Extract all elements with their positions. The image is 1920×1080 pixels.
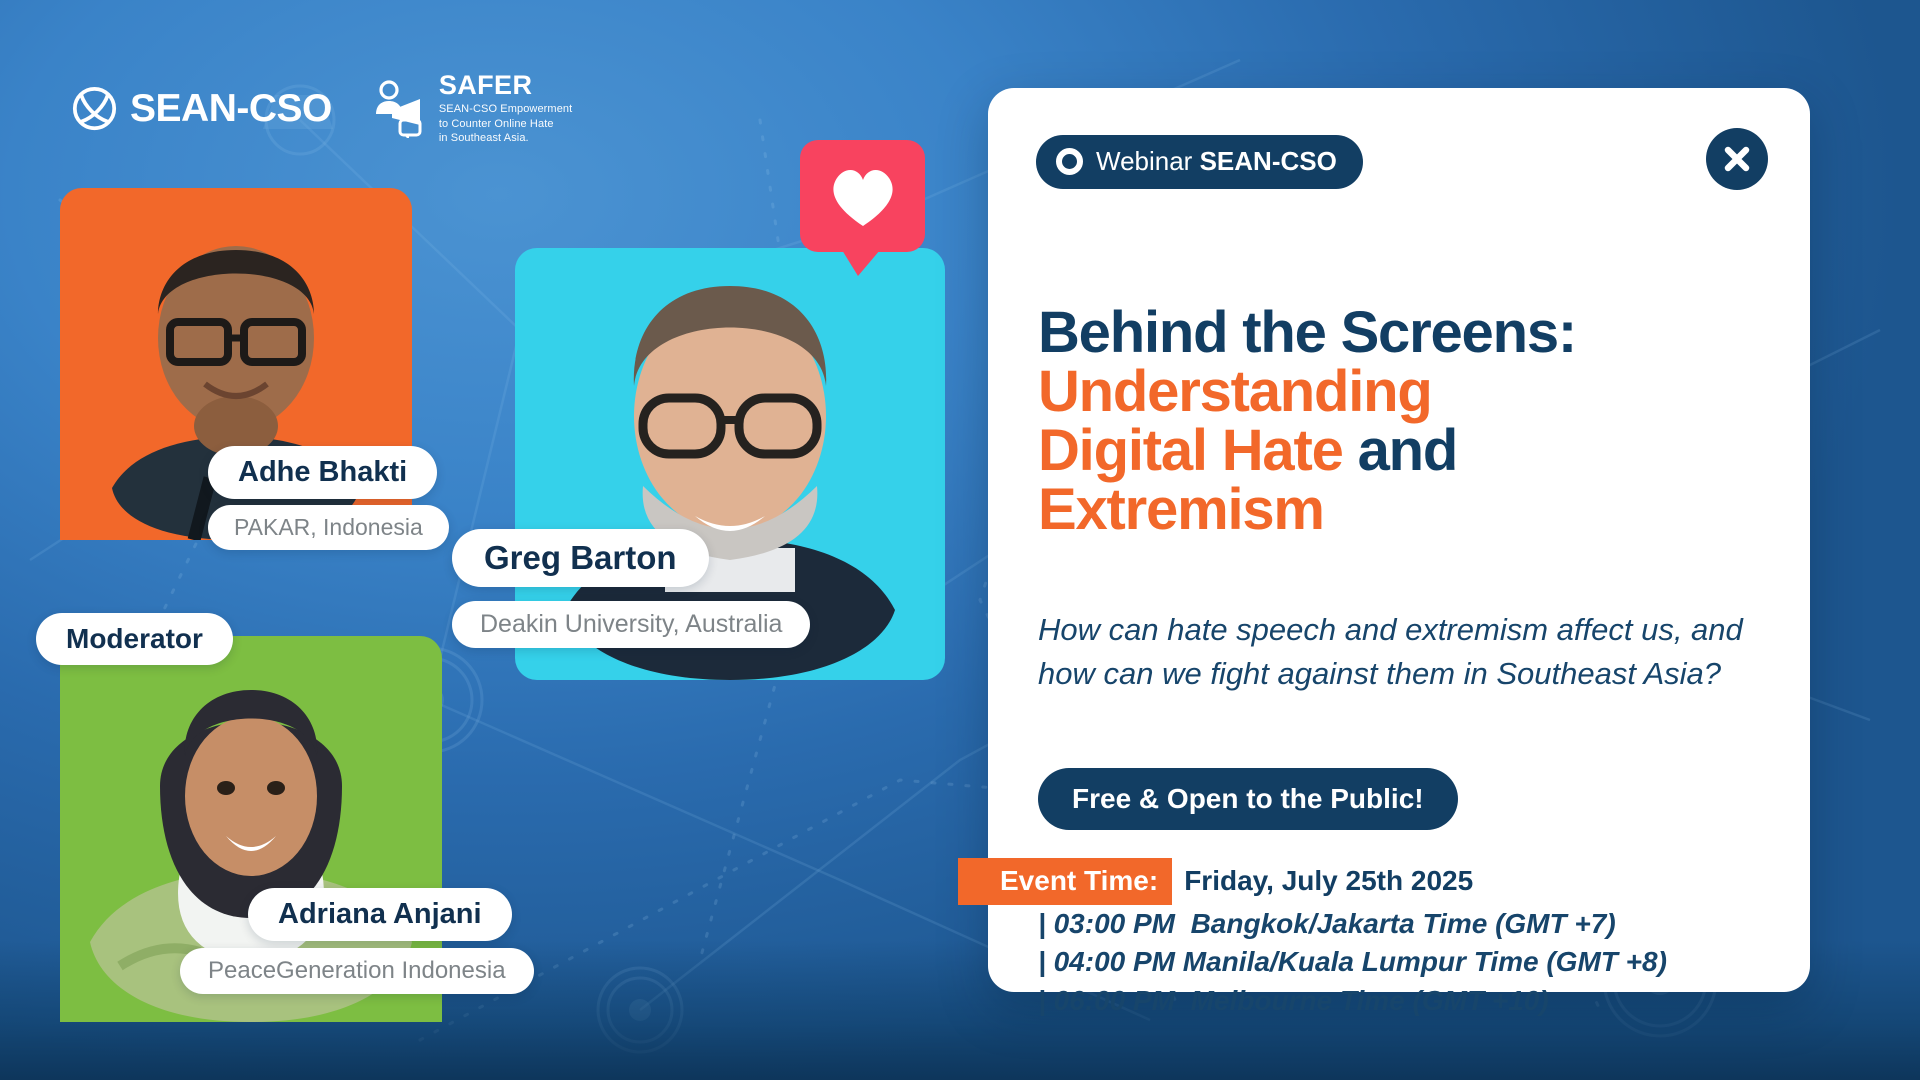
speaker-org-pill-adriana: PeaceGeneration Indonesia	[180, 948, 534, 994]
moderator-badge: Moderator	[36, 613, 233, 665]
timezone-line-1: | 03:00 PM Bangkok/Jakarta Time (GMT +7)	[988, 905, 1810, 944]
headline-line-4: Extremism	[1038, 477, 1324, 542]
megaphone-person-icon	[370, 80, 428, 138]
seancso-logo: SEAN-CSO	[72, 86, 332, 131]
speaker-org-pill-adhe: PAKAR, Indonesia	[208, 505, 449, 550]
logo-bar: SEAN-CSO SAFER SEAN-CSO Empowerment to C…	[72, 72, 572, 146]
headline-line-3a: Digital Hate	[1038, 418, 1358, 483]
globe-ring-icon	[72, 86, 117, 131]
speaker-name-pill-adhe: Adhe Bhakti	[208, 446, 437, 499]
speaker-name-pill-greg: Greg Barton	[452, 529, 709, 587]
ring-icon	[1056, 148, 1083, 175]
webinar-badge-label: Webinar SEAN-CSO	[1096, 146, 1337, 177]
headline-line-1: Behind the Screens:	[1038, 300, 1576, 365]
headline-line-3b: and	[1358, 418, 1458, 483]
safer-wordmark: SAFER	[439, 72, 572, 99]
page-title: Behind the Screens: Understanding Digita…	[1038, 303, 1768, 540]
free-public-badge[interactable]: Free & Open to the Public!	[1038, 768, 1458, 830]
heart-icon	[827, 164, 899, 228]
like-bubble	[800, 140, 925, 252]
headline-line-2: Understanding	[1038, 359, 1432, 424]
close-icon	[1721, 143, 1753, 175]
speaker-name-pill-adriana: Adriana Anjani	[248, 888, 512, 941]
webinar-badge: Webinar SEAN-CSO	[1036, 135, 1363, 189]
event-date: Friday, July 25th 2025	[1172, 865, 1473, 897]
safer-tagline: SEAN-CSO Empowerment to Counter Online H…	[439, 102, 572, 146]
subtitle: How can hate speech and extremism affect…	[1038, 608, 1768, 696]
timezone-line-2: | 04:00 PM Manila/Kuala Lumpur Time (GMT…	[988, 943, 1810, 982]
speaker-org-pill-greg: Deakin University, Australia	[452, 601, 810, 648]
event-time-label: Event Time:	[958, 858, 1172, 905]
webinar-info-card: Webinar SEAN-CSO Behind the Screens: Und…	[988, 88, 1810, 992]
close-button[interactable]	[1706, 128, 1768, 190]
seancso-wordmark: SEAN-CSO	[130, 87, 332, 131]
event-time-block: Event Time: Friday, July 25th 2025 | 03:…	[988, 858, 1810, 1020]
timezone-line-3: | 06:00 PM Melbourne Time (GMT +10)	[988, 982, 1810, 1021]
safer-logo: SAFER SEAN-CSO Empowerment to Counter On…	[370, 72, 572, 146]
